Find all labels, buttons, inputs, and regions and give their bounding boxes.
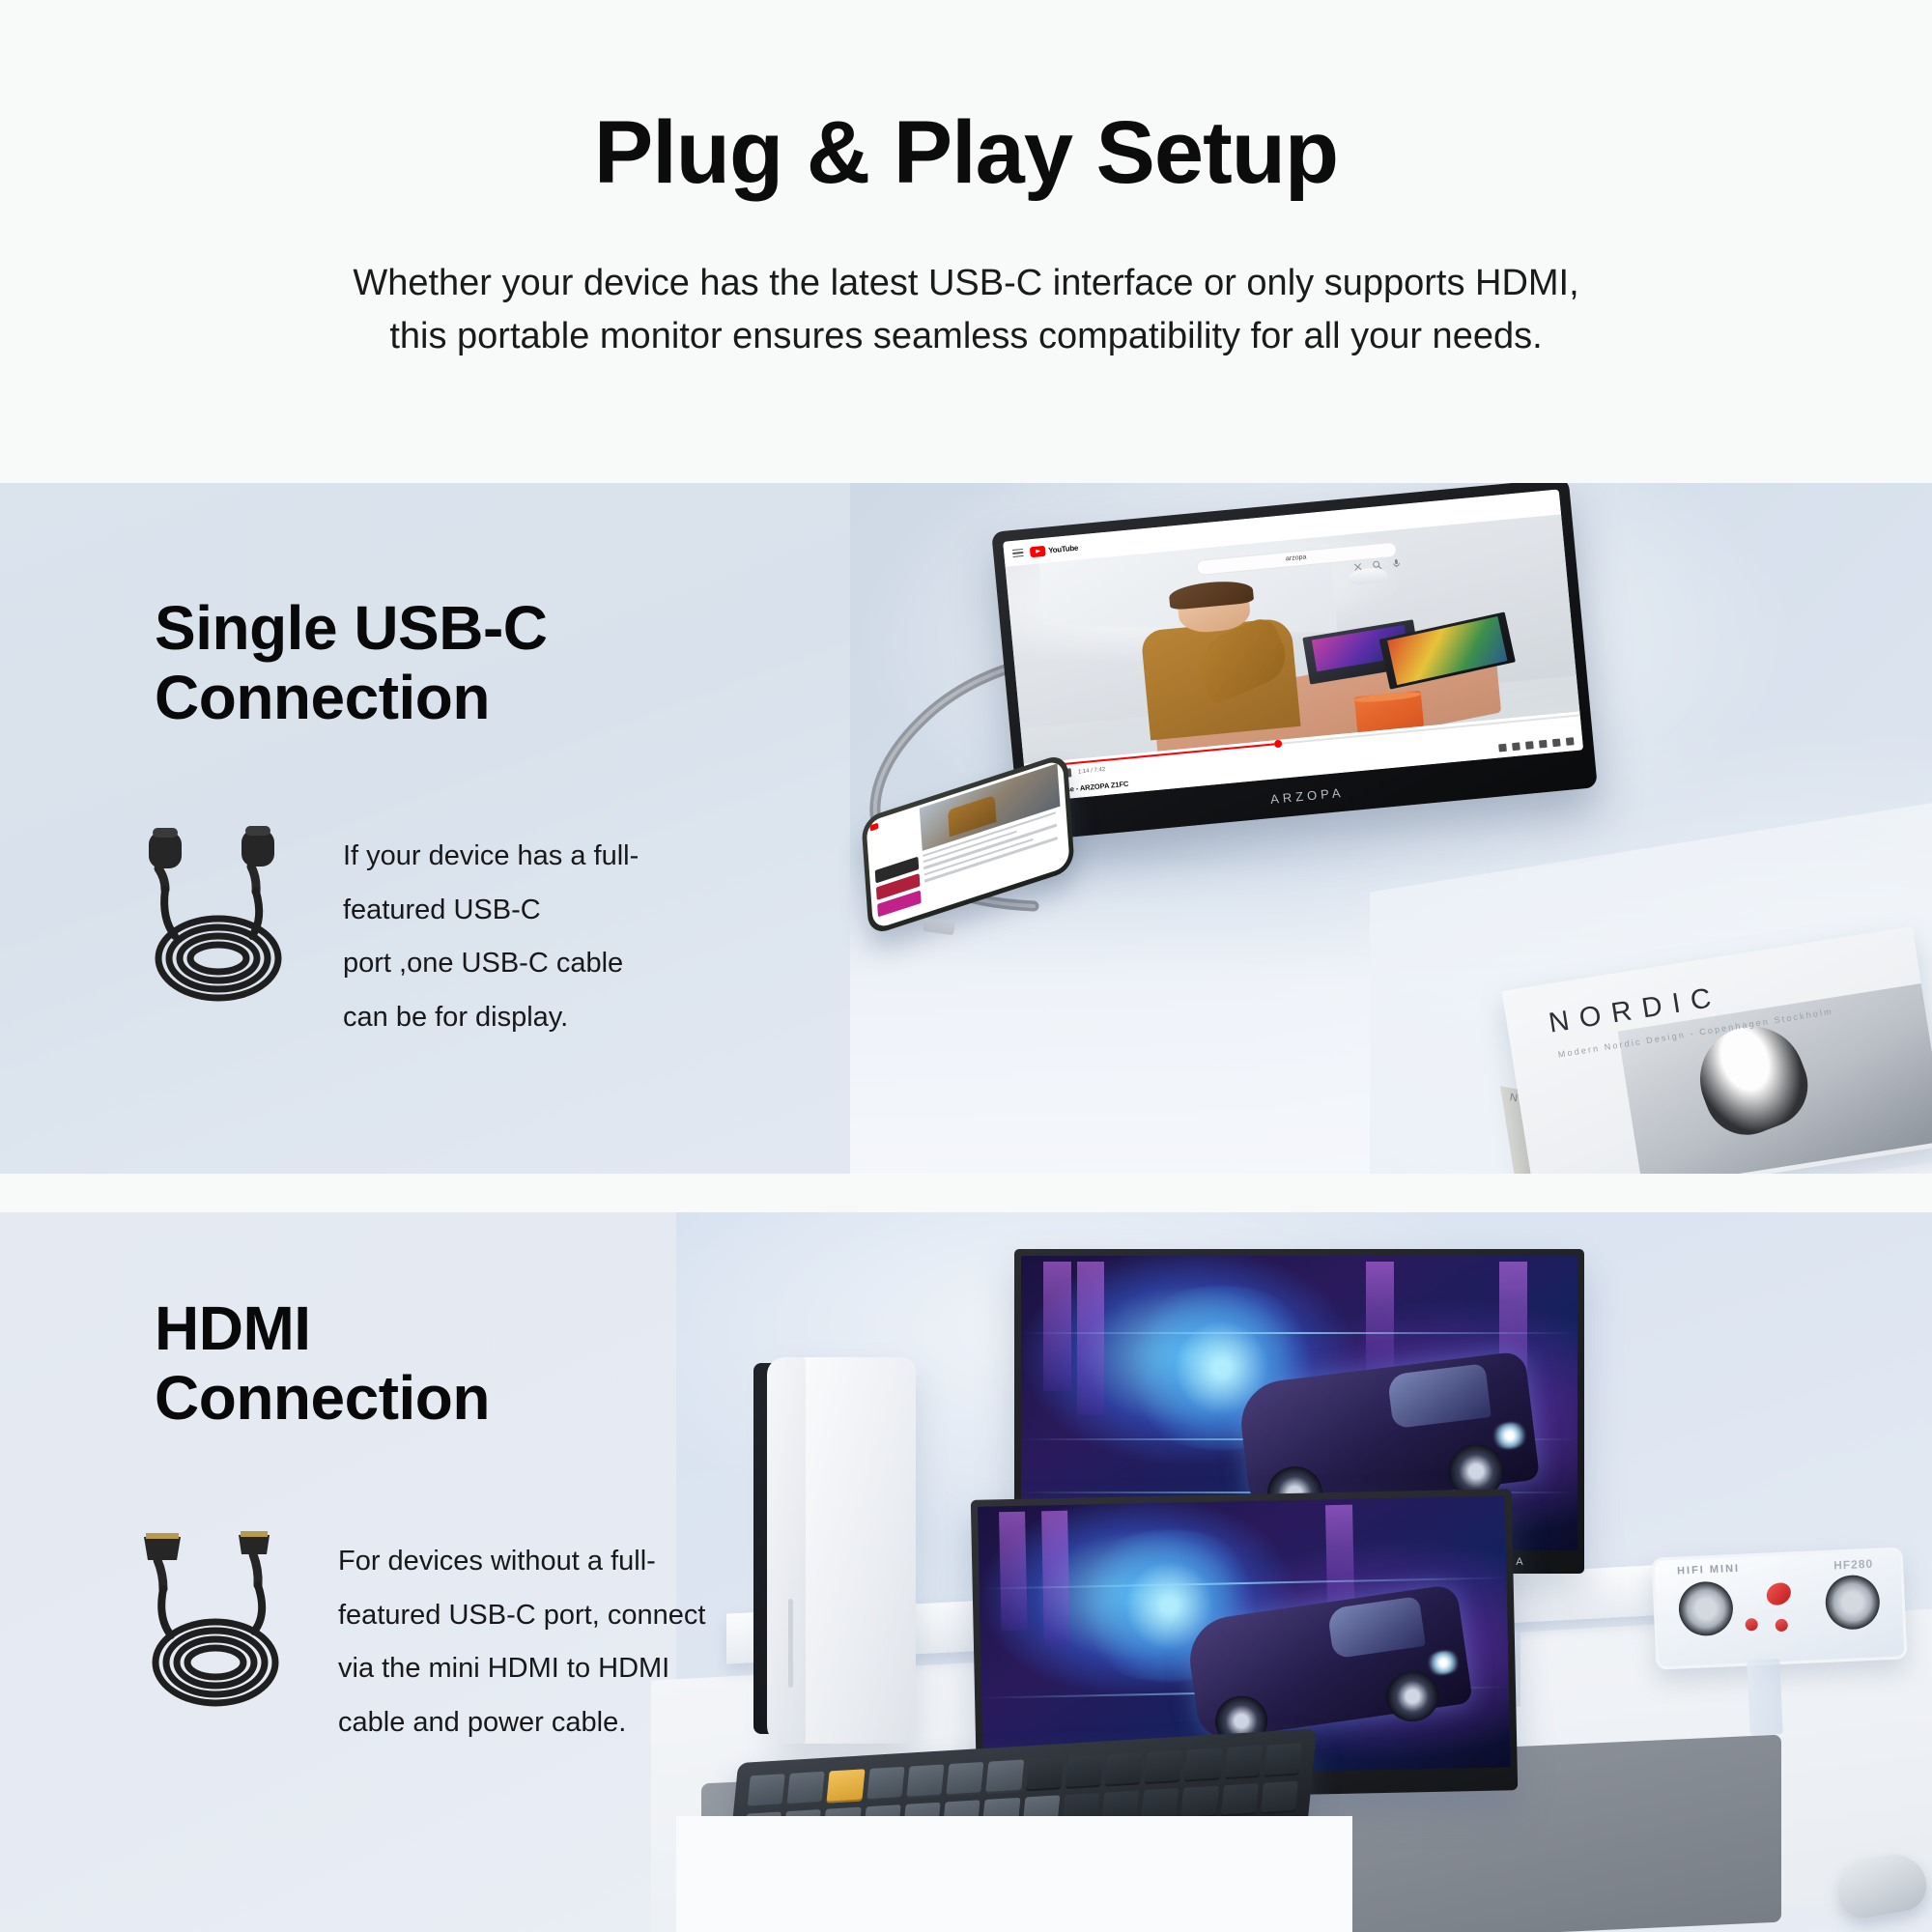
theater-icon[interactable]: [1552, 738, 1561, 747]
usb-c-body-line-4: can be for display.: [343, 991, 639, 1045]
speaker-body: HIFI MINI HF280: [1652, 1547, 1908, 1669]
phone-thumbnail-list: [875, 856, 923, 925]
hdmi-body-line-1: For devices without a full-: [338, 1535, 705, 1589]
search-query-text: arzopa: [1286, 554, 1307, 563]
speaker-button-2[interactable]: [1775, 1619, 1788, 1633]
fullscreen-icon[interactable]: [1566, 737, 1575, 746]
hdmi-body-line-4: cable and power cable.: [338, 1696, 705, 1750]
usb-c-body-line-3: port ,one USB-C cable: [343, 937, 639, 991]
usb-c-product-photo: YouTube: [850, 483, 1932, 1174]
usb-c-heading: Single USB-C Connection: [155, 594, 547, 732]
hdmi-heading: HDMI Connection: [155, 1294, 490, 1433]
hdmi-heading-line-2: Connection: [155, 1363, 490, 1433]
hdmi-product-photo: ARZOPA ARZOPA: [676, 1212, 1932, 1932]
settings-gear-icon[interactable]: [1525, 741, 1534, 750]
hdmi-heading-block: HDMI Connection: [155, 1294, 490, 1433]
usb-c-heading-block: Single USB-C Connection: [155, 594, 547, 732]
video-timestamp: 1:14 / 7:42: [1078, 766, 1106, 775]
youtube-logo-icon: YouTube: [1030, 542, 1079, 557]
hdmi-cable-icon: [130, 1531, 299, 1715]
speaker-driver-right: [1825, 1575, 1881, 1631]
monitor-brand-label: ARZOPA: [1269, 784, 1345, 806]
speaker-driver-left: [1678, 1580, 1734, 1636]
section-hdmi-connection: ARZOPA ARZOPA: [0, 1212, 1932, 1932]
menu-icon[interactable]: [1012, 548, 1024, 557]
microphone-icon[interactable]: [1391, 557, 1403, 569]
section-usb-c-connection: YouTube: [0, 483, 1932, 1174]
usb-c-feature-row: If your device has a full- featured USB-…: [135, 826, 639, 1045]
subtitles-icon[interactable]: [1512, 742, 1520, 751]
phone-youtube-icon: [870, 823, 879, 832]
person-in-video: [1137, 580, 1301, 740]
usb-c-body-line-2: featured USB-C: [343, 884, 639, 938]
hdmi-body-line-3: via the mini HDMI to HDMI: [338, 1642, 705, 1696]
search-icon[interactable]: [1372, 559, 1383, 571]
autoplay-icon[interactable]: [1498, 744, 1507, 753]
subtitle-line-2: this portable monitor ensures seamless c…: [353, 310, 1578, 363]
monitor-body: YouTube: [991, 483, 1598, 842]
usb-c-body-text: If your device has a full- featured USB-…: [343, 826, 639, 1045]
page-subtitle: Whether your device has the latest USB-C…: [353, 257, 1578, 363]
usb-c-heading-line-2: Connection: [155, 663, 490, 732]
speaker-model-label: HF280: [1833, 1556, 1874, 1572]
bluetooth-speaker: HIFI MINI HF280: [1652, 1547, 1908, 1669]
progress-handle[interactable]: [1274, 740, 1283, 749]
hdmi-body-text: For devices without a full- featured USB…: [338, 1531, 705, 1750]
usb-c-body-line-1: If your device has a full-: [343, 830, 639, 884]
monitor-screen: YouTube: [1003, 489, 1583, 802]
speaker-button-1[interactable]: [1746, 1618, 1759, 1632]
usb-c-heading-line-1: Single USB-C: [155, 593, 547, 663]
miniplayer-icon[interactable]: [1539, 740, 1548, 749]
youtube-wordmark: YouTube: [1048, 543, 1079, 554]
scene-foreground-fade: [676, 1816, 1352, 1932]
speaker-brand-label: HIFI MINI: [1677, 1562, 1741, 1577]
hdmi-body-line-2: featured USB-C port, connect: [338, 1589, 705, 1643]
section-divider: [0, 1174, 1932, 1212]
speaker-stand: [1747, 1659, 1782, 1735]
game-console: [753, 1357, 916, 1744]
portable-monitor: YouTube: [991, 483, 1598, 842]
close-icon[interactable]: [1352, 561, 1364, 573]
subtitle-line-1: Whether your device has the latest USB-C…: [353, 257, 1578, 310]
hdmi-feature-row: For devices without a full- featured USB…: [130, 1531, 705, 1750]
page-title: Plug & Play Setup: [594, 108, 1338, 197]
hdmi-heading-line-1: HDMI: [155, 1293, 311, 1363]
page-header: Plug & Play Setup Whether your device ha…: [0, 0, 1932, 483]
usb-c-cable-icon: [135, 826, 304, 1009]
speaker-knob[interactable]: [1763, 1578, 1796, 1609]
player-right-buttons: [1498, 737, 1574, 752]
